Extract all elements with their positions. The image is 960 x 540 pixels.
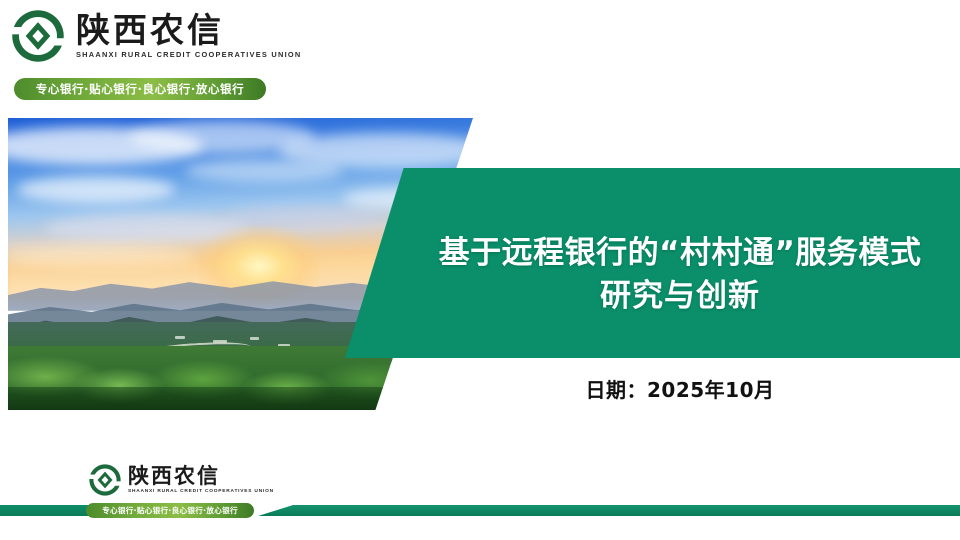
presentation-title-slide: 陕西农信 SHAANXI RURAL CREDIT COOPERATIVES U… <box>0 0 960 540</box>
shaanxi-rcc-logo-icon <box>10 8 66 64</box>
footer-tagline-pill: 专心银行·贴心银行·良心银行·放心银行 <box>86 503 254 518</box>
brand-name-cn: 陕西农信 <box>76 13 282 49</box>
photo-cloud <box>17 176 175 202</box>
footer-tagline-text: 专心银行·贴心银行·良心银行·放心银行 <box>102 505 238 516</box>
footer-wordmark: 陕西农信 SHAANXI RURAL CREDIT COOPERATIVES U… <box>128 465 255 495</box>
page-title: 基于远程银行的“村村通”服务模式 研究与创新 <box>400 232 960 318</box>
footer-brand-logo: 陕西农信 SHAANXI RURAL CREDIT COOPERATIVES U… <box>88 463 255 497</box>
footer-brand-name-cn: 陕西农信 <box>128 465 255 487</box>
header-wordmark: 陕西农信 SHAANXI RURAL CREDIT COOPERATIVES U… <box>76 13 282 60</box>
shaanxi-rcc-logo-icon <box>88 463 122 497</box>
slide-footer: 陕西农信 SHAANXI RURAL CREDIT COOPERATIVES U… <box>0 455 960 540</box>
title-line-1: 基于远程银行的“村村通”服务模式 <box>400 232 960 275</box>
header-logo-row: 陕西农信 SHAANXI RURAL CREDIT COOPERATIVES U… <box>10 8 282 64</box>
header-tagline-pill: 专心银行·贴心银行·良心银行·放心银行 <box>14 78 266 100</box>
header-brand-logo: 陕西农信 SHAANXI RURAL CREDIT COOPERATIVES U… <box>10 8 300 100</box>
footer-bar-right <box>258 505 960 516</box>
header-tagline-text: 专心银行·贴心银行·良心银行·放心银行 <box>36 81 245 97</box>
photo-forest-shadow <box>8 387 473 410</box>
title-line-2: 研究与创新 <box>400 275 960 318</box>
footer-brand-name-en: SHAANXI RURAL CREDIT COOPERATIVES UNION <box>128 488 255 495</box>
photo-village-house <box>250 337 259 340</box>
brand-name-en: SHAANXI RURAL CREDIT COOPERATIVES UNION <box>76 50 282 60</box>
photo-cloud <box>185 159 343 182</box>
photo-village-house <box>175 336 185 339</box>
presentation-date: 日期：2025年10月 <box>460 374 900 403</box>
